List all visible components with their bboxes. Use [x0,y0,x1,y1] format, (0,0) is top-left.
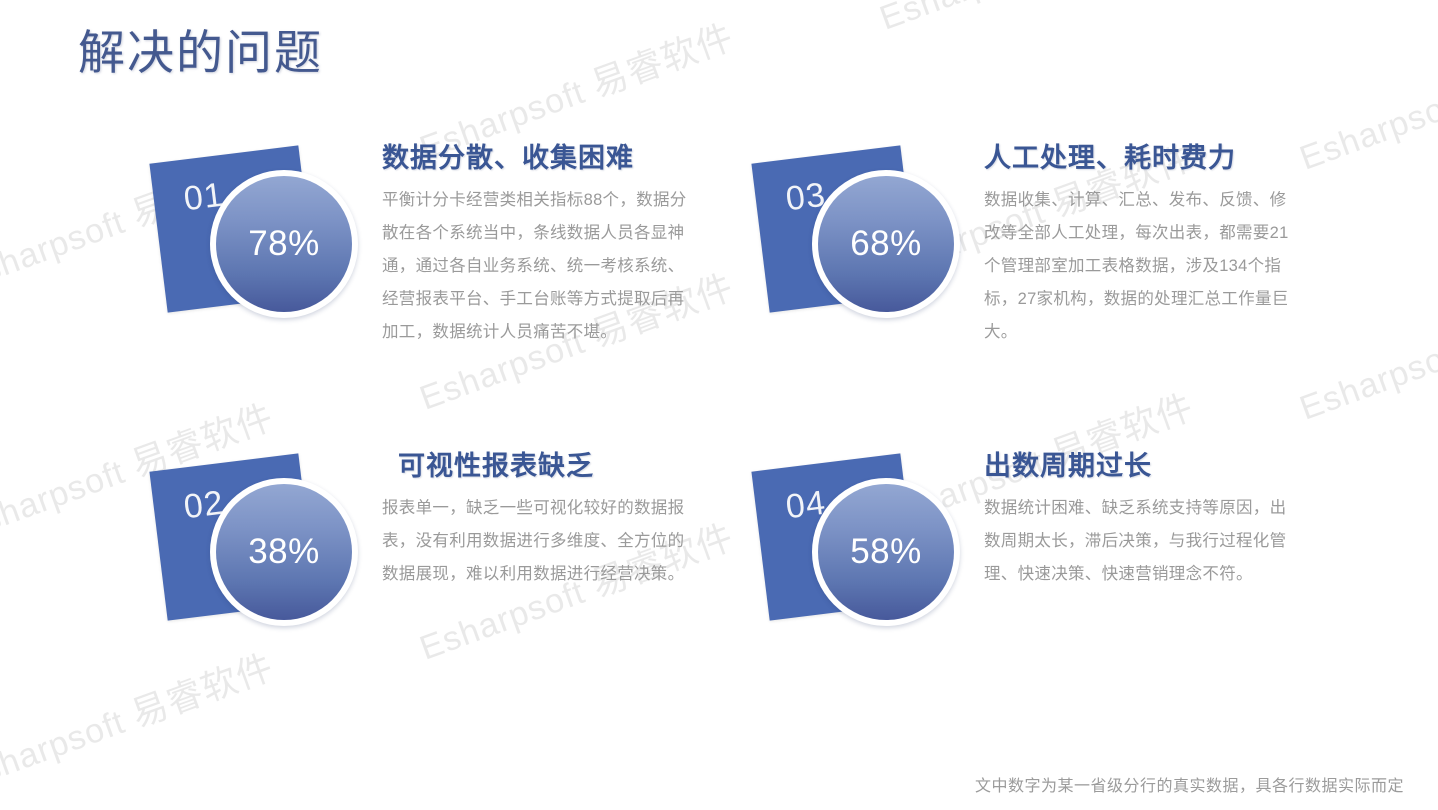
watermark-en: Esharpsoft [1295,83,1438,178]
percent-circle: 58% [812,478,960,626]
footnote: 文中数字为某一省级分行的真实数据，具各行数据实际而定 [975,772,1404,796]
page-title: 解决的问题 [78,14,323,83]
card-body: 数据收集、计算、汇总、发布、反馈、修改等全部人工处理，每次出表，都需要21个管理… [984,184,1294,349]
watermark-layer: Esharpsoft 易睿软件 Esharpsoft 易睿软件 Esharpso… [0,0,1438,810]
percent-circle-fill: 78% [216,176,352,312]
percent-circle: 68% [812,170,960,318]
percent-value: 38% [248,532,320,572]
card-body: 报表单一，缺乏一些可视化较好的数据报表，没有利用数据进行多维度、全方位的数据展现… [382,492,692,591]
card-text: 可视性报表缺乏 报表单一，缺乏一些可视化较好的数据报表，没有利用数据进行多维度、… [382,450,692,591]
card-text: 人工处理、耗时费力 数据收集、计算、汇总、发布、反馈、修改等全部人工处理，每次出… [984,142,1294,349]
percent-circle: 38% [210,478,358,626]
watermark-text: Esharpsoft 易睿软件 [0,638,280,800]
percent-circle-fill: 58% [818,484,954,620]
percent-circle: 78% [210,170,358,318]
card-heading: 人工处理、耗时费力 [984,142,1294,174]
card-text: 数据分散、收集困难 平衡计分卡经营类相关指标88个，数据分散在各个系统当中，条线… [382,142,692,349]
card-visual: 04 58% [752,450,967,640]
watermark-en: Esharpsoft [0,203,130,298]
percent-value: 58% [850,532,922,572]
watermark-text: Esharpsoft 易睿软件 [871,0,1200,40]
card-heading: 出数周期过长 [984,450,1294,482]
percent-circle-fill: 68% [818,176,954,312]
card-body: 数据统计困难、缺乏系统支持等原因，出数周期太长，滞后决策，与我行过程化管理、快速… [984,492,1294,591]
card-heading: 可视性报表缺乏 [382,450,692,482]
card-visual: 03 68% [752,142,967,332]
percent-value: 68% [850,224,922,264]
percent-circle-fill: 38% [216,484,352,620]
percent-value: 78% [248,224,320,264]
watermark-en: Esharpsoft [1295,333,1438,428]
slide-root: Esharpsoft 易睿软件 Esharpsoft 易睿软件 Esharpso… [0,0,1438,810]
card-text: 出数周期过长 数据统计困难、缺乏系统支持等原因，出数周期太长，滞后决策，与我行过… [984,450,1294,591]
watermark-text: Esharpsoft 易睿软件 [1291,268,1438,430]
card-visual: 02 38% [150,450,365,640]
watermark-cn: 易睿软件 [126,646,279,735]
watermark-text: Esharpsoft 易睿软件 [1291,18,1438,180]
watermark-en: Esharpsoft [0,703,130,798]
watermark-cn: 易睿软件 [586,16,739,105]
card-visual: 01 78% [150,142,365,332]
watermark-en: Esharpsoft [0,453,130,548]
card-body: 平衡计分卡经营类相关指标88个，数据分散在各个系统当中，条线数据人员各显神通，通… [382,184,692,349]
card-heading: 数据分散、收集困难 [382,142,692,174]
watermark-en: Esharpsoft [875,0,1050,38]
